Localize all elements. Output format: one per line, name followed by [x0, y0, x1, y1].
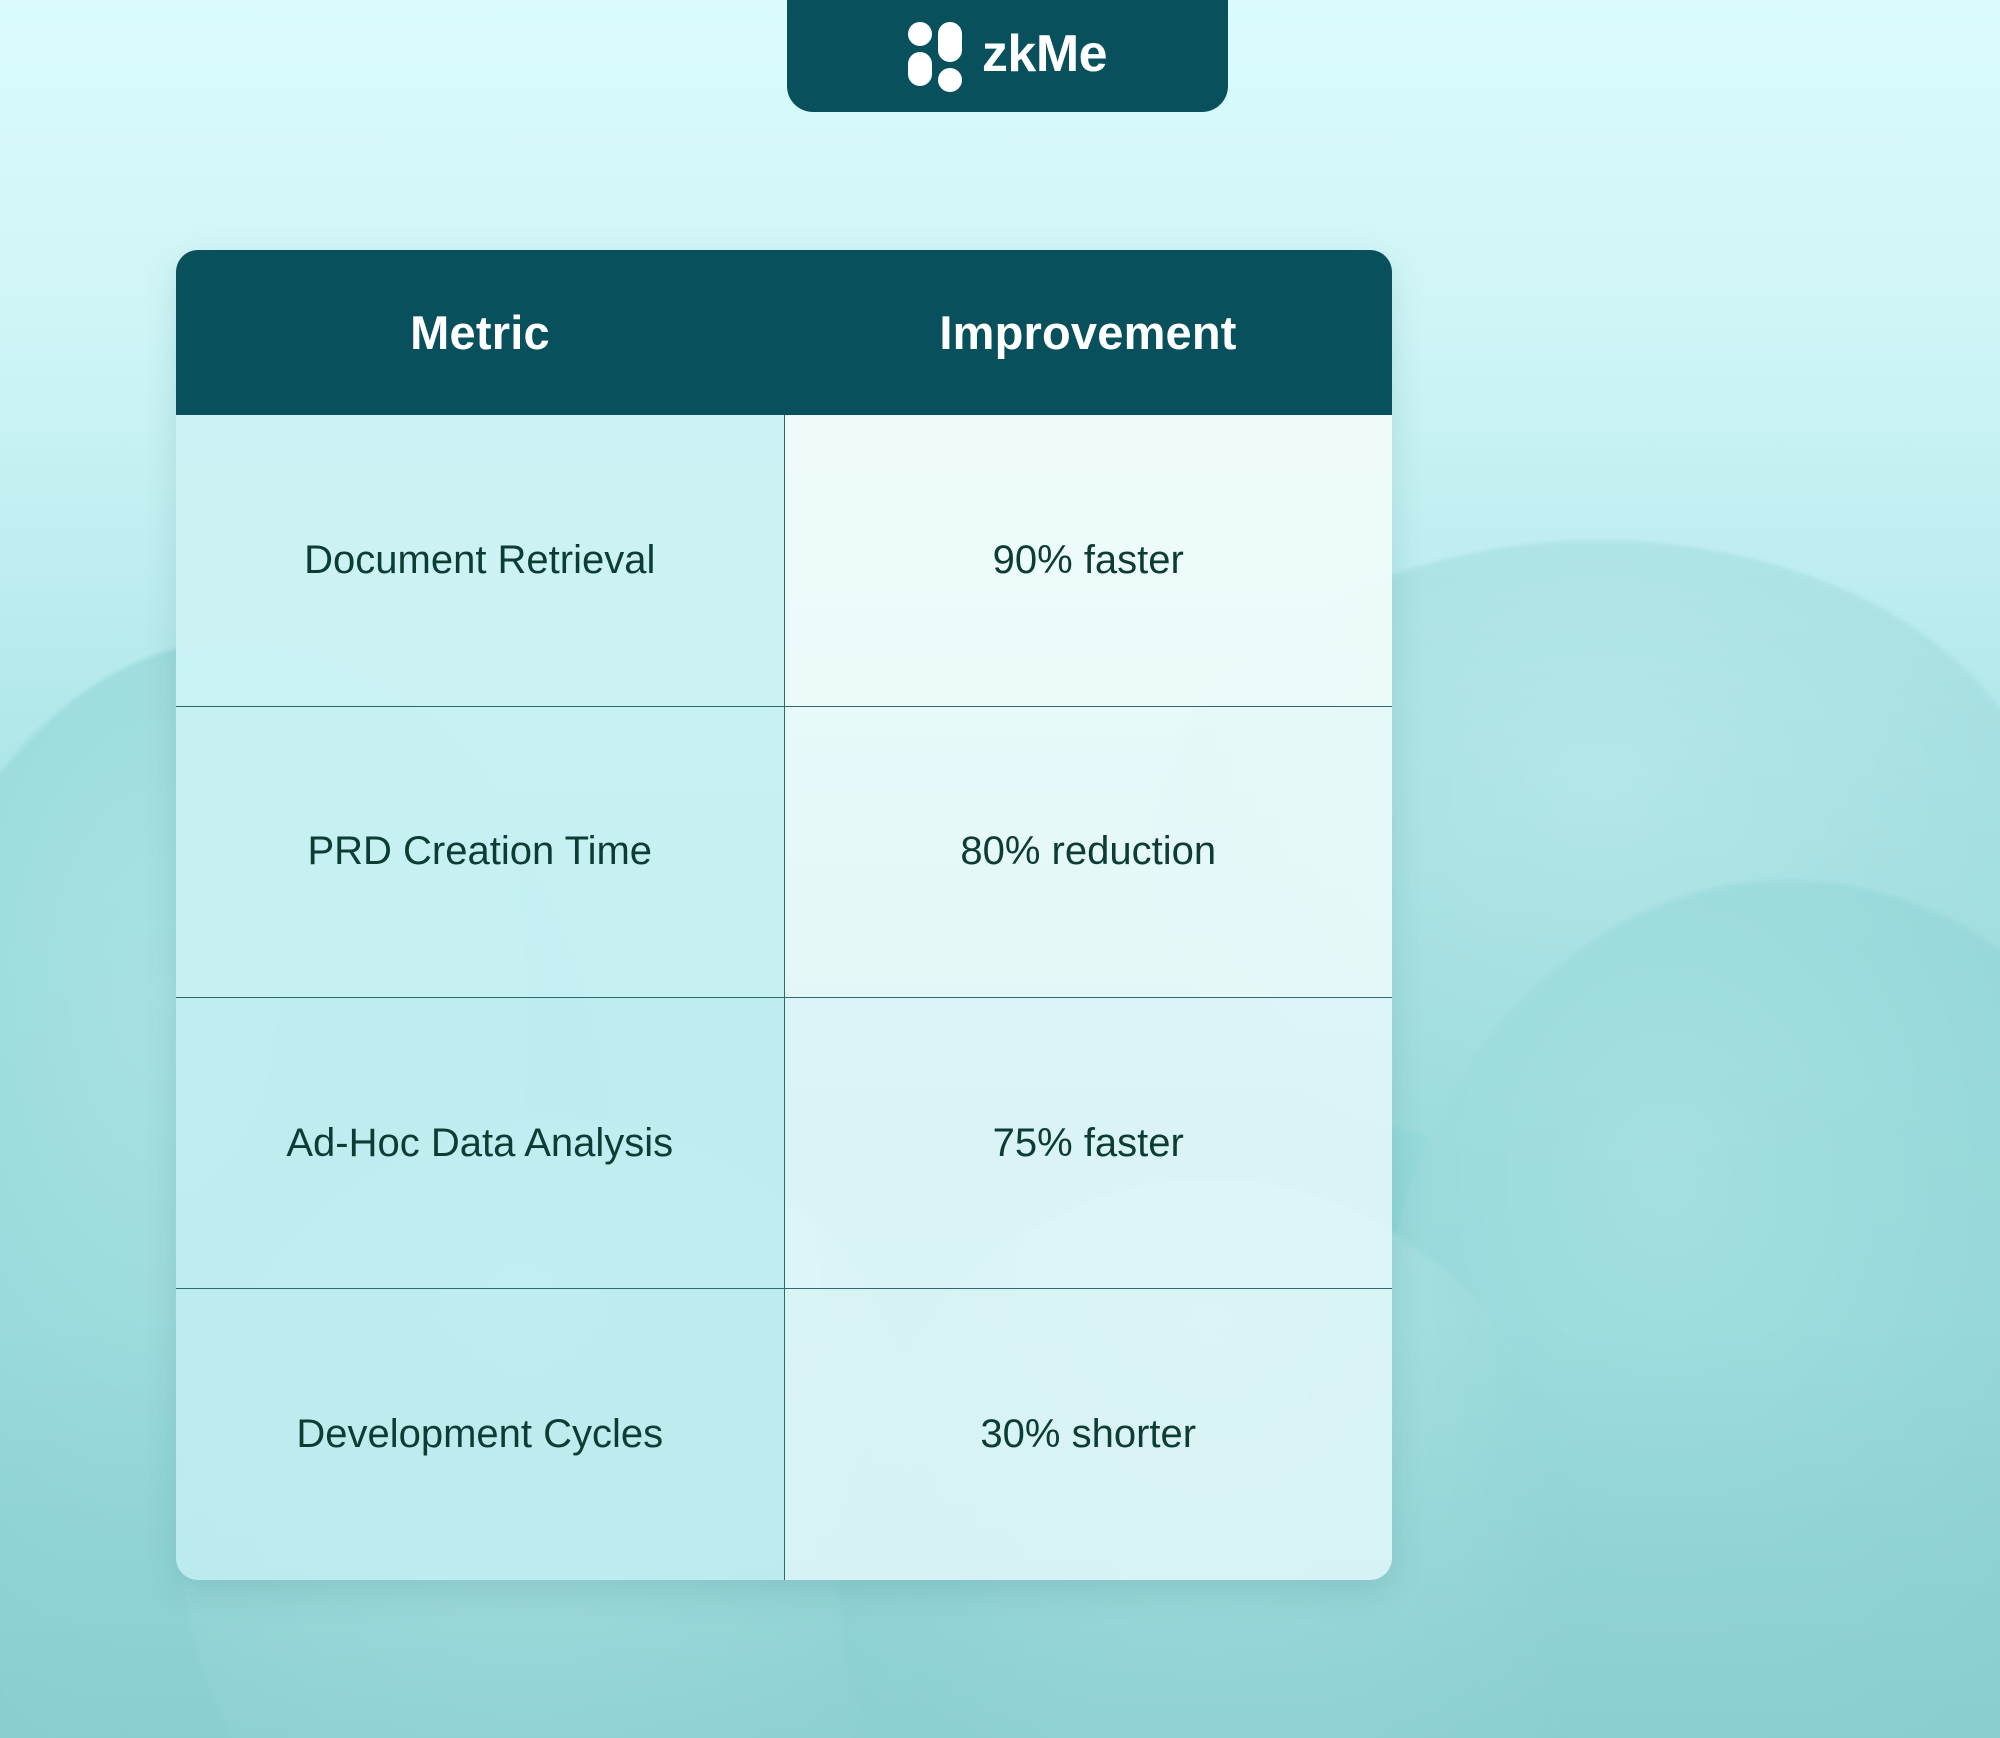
cell-metric: Ad-Hoc Data Analysis — [176, 998, 784, 1289]
table-row: Ad-Hoc Data Analysis 75% faster — [176, 998, 1392, 1289]
brand-name: zkMe — [982, 28, 1107, 80]
table-header-row: Metric Improvement — [176, 250, 1392, 415]
table-row: PRD Creation Time 80% reduction — [176, 706, 1392, 997]
table-row: Development Cycles 30% shorter — [176, 1289, 1392, 1580]
cell-improvement: 30% shorter — [784, 1289, 1392, 1580]
page-root: zkMe Metric Improvement Document Retriev… — [0, 0, 2000, 1738]
zkme-logo-mark-icon — [908, 22, 962, 86]
cell-metric: Development Cycles — [176, 1289, 784, 1580]
cell-metric: Document Retrieval — [176, 415, 784, 706]
cell-improvement: 90% faster — [784, 415, 1392, 706]
cell-improvement: 75% faster — [784, 998, 1392, 1289]
cell-improvement: 80% reduction — [784, 706, 1392, 997]
table-body: Document Retrieval 90% faster PRD Creati… — [176, 415, 1392, 1580]
metrics-table-card: Metric Improvement Document Retrieval 90… — [176, 250, 1392, 1580]
table-row: Document Retrieval 90% faster — [176, 415, 1392, 706]
table-header: Metric Improvement — [176, 250, 1392, 415]
brand-logo-inner: zkMe — [908, 22, 1107, 86]
brand-logo-tab[interactable]: zkMe — [787, 0, 1228, 112]
column-header-metric: Metric — [176, 250, 784, 415]
column-header-improvement: Improvement — [784, 250, 1392, 415]
metrics-table: Metric Improvement Document Retrieval 90… — [176, 250, 1392, 1580]
cell-metric: PRD Creation Time — [176, 706, 784, 997]
